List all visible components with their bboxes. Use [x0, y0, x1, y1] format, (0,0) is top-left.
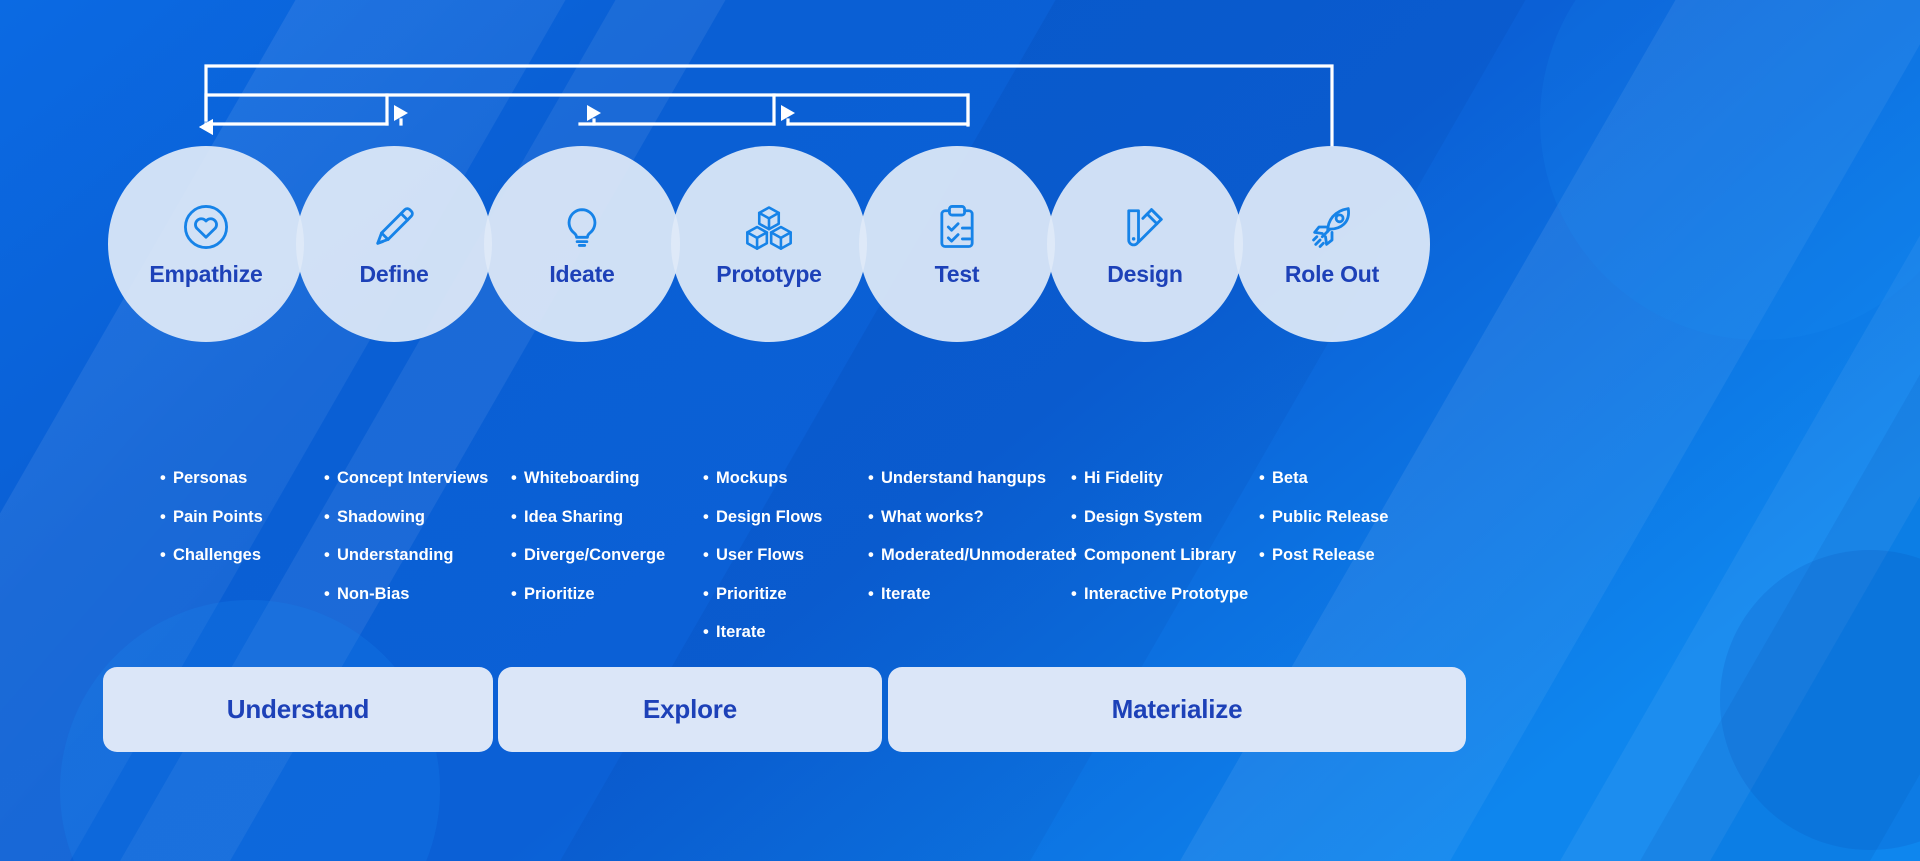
- detail-column-define: •Concept Interviews •Shadowing •Understa…: [324, 470, 488, 624]
- list-item-label: Iterate: [716, 624, 766, 641]
- bullet-dot: •: [868, 470, 881, 487]
- phase-bar-explore[interactable]: Explore: [498, 667, 882, 752]
- list-item-label: Diverge/Converge: [524, 547, 665, 564]
- bullet-dot: •: [1259, 470, 1272, 487]
- bullet-dot: •: [703, 586, 716, 603]
- list-item: •Post Release: [1259, 547, 1388, 564]
- bullet-dot: •: [324, 509, 337, 526]
- list-item-label: Challenges: [173, 547, 261, 564]
- phase-label-materialize: Materialize: [1112, 694, 1243, 725]
- stage-label-ideate: Ideate: [549, 261, 614, 288]
- bullet-dot: •: [1071, 509, 1084, 526]
- detail-column-empathize: •Personas •Pain Points •Challenges: [160, 470, 263, 586]
- list-item: •Iterate: [703, 624, 822, 641]
- stage-circle-define[interactable]: Define: [296, 146, 492, 342]
- list-item-label: Design Flows: [716, 509, 822, 526]
- list-item: •Beta: [1259, 470, 1388, 487]
- phase-label-understand: Understand: [227, 694, 369, 725]
- list-item: •Diverge/Converge: [511, 547, 665, 564]
- stacked-cubes-icon: [743, 201, 795, 253]
- list-item-label: Component Library: [1084, 547, 1236, 564]
- list-item: •Shadowing: [324, 509, 488, 526]
- bullet-dot: •: [868, 586, 881, 603]
- rocket-icon: [1306, 201, 1358, 253]
- stage-circle-prototype[interactable]: Prototype: [671, 146, 867, 342]
- stage-label-prototype: Prototype: [716, 261, 822, 288]
- list-item: •Prioritize: [703, 586, 822, 603]
- detail-column-ideate: •Whiteboarding •Idea Sharing •Diverge/Co…: [511, 470, 665, 624]
- stage-circle-design[interactable]: Design: [1047, 146, 1243, 342]
- list-item: •User Flows: [703, 547, 822, 564]
- list-item-label: Shadowing: [337, 509, 425, 526]
- list-item: •Moderated/Unmoderated: [868, 547, 1075, 564]
- list-item: •Whiteboarding: [511, 470, 665, 487]
- pencil-icon: [368, 201, 420, 253]
- stage-circle-row: Empathize Define Ideate: [0, 0, 1920, 400]
- list-item: •Design System: [1071, 509, 1248, 526]
- bullet-dot: •: [1259, 547, 1272, 564]
- detail-column-test: •Understand hangups •What works? •Modera…: [868, 470, 1075, 624]
- list-item-label: Mockups: [716, 470, 788, 487]
- list-item-label: Public Release: [1272, 509, 1388, 526]
- list-item-label: Concept Interviews: [337, 470, 488, 487]
- bullet-dot: •: [511, 470, 524, 487]
- stage-circle-ideate[interactable]: Ideate: [484, 146, 680, 342]
- list-item: •Hi Fidelity: [1071, 470, 1248, 487]
- list-item-label: Personas: [173, 470, 247, 487]
- phase-bar-materialize[interactable]: Materialize: [888, 667, 1466, 752]
- list-item: •Idea Sharing: [511, 509, 665, 526]
- bullet-dot: •: [868, 509, 881, 526]
- bullet-dot: •: [324, 547, 337, 564]
- list-item-label: Moderated/Unmoderated: [881, 547, 1075, 564]
- list-item: •Iterate: [868, 586, 1075, 603]
- diagram-stage: Empathize Define Ideate: [0, 0, 1920, 861]
- list-item: •Design Flows: [703, 509, 822, 526]
- list-item: •Concept Interviews: [324, 470, 488, 487]
- bullet-dot: •: [160, 509, 173, 526]
- stage-label-test: Test: [935, 261, 980, 288]
- list-item-label: Idea Sharing: [524, 509, 623, 526]
- bullet-dot: •: [160, 547, 173, 564]
- list-item: •Interactive Prototype: [1071, 586, 1248, 603]
- bullet-dot: •: [1071, 547, 1084, 564]
- bullet-dot: •: [1071, 470, 1084, 487]
- color-swatch-pen-icon: [1119, 201, 1171, 253]
- phase-label-explore: Explore: [643, 694, 737, 725]
- list-item: •Understand hangups: [868, 470, 1075, 487]
- bullet-dot: •: [324, 586, 337, 603]
- bullet-dot: •: [1071, 586, 1084, 603]
- list-item-label: Non-Bias: [337, 586, 409, 603]
- list-item-label: Prioritize: [524, 586, 595, 603]
- lightbulb-icon: [556, 201, 608, 253]
- list-item-label: Understand hangups: [881, 470, 1046, 487]
- list-item: •Challenges: [160, 547, 263, 564]
- list-item-label: Whiteboarding: [524, 470, 639, 487]
- bullet-dot: •: [868, 547, 881, 564]
- stage-circle-roleout[interactable]: Role Out: [1234, 146, 1430, 342]
- list-item: •Personas: [160, 470, 263, 487]
- bullet-dot: •: [703, 547, 716, 564]
- phase-bar-understand[interactable]: Understand: [103, 667, 493, 752]
- list-item: •Component Library: [1071, 547, 1248, 564]
- stage-label-design: Design: [1107, 261, 1182, 288]
- detail-column-design: •Hi Fidelity •Design System •Component L…: [1071, 470, 1248, 624]
- list-item-label: Hi Fidelity: [1084, 470, 1163, 487]
- list-item-label: Prioritize: [716, 586, 787, 603]
- stage-circle-test[interactable]: Test: [859, 146, 1055, 342]
- list-item: •What works?: [868, 509, 1075, 526]
- clipboard-checklist-icon: [931, 201, 983, 253]
- list-item-label: Design System: [1084, 509, 1202, 526]
- stage-detail-columns: •Personas •Pain Points •Challenges •Conc…: [0, 470, 1920, 670]
- list-item: •Mockups: [703, 470, 822, 487]
- bullet-dot: •: [703, 470, 716, 487]
- bullet-dot: •: [511, 586, 524, 603]
- list-item: •Prioritize: [511, 586, 665, 603]
- list-item-label: Pain Points: [173, 509, 263, 526]
- stage-label-roleout: Role Out: [1285, 261, 1379, 288]
- list-item: •Pain Points: [160, 509, 263, 526]
- list-item-label: Post Release: [1272, 547, 1375, 564]
- detail-column-prototype: •Mockups •Design Flows •User Flows •Prio…: [703, 470, 822, 663]
- list-item-label: Iterate: [881, 586, 931, 603]
- list-item-label: Interactive Prototype: [1084, 586, 1248, 603]
- detail-column-roleout: •Beta •Public Release •Post Release: [1259, 470, 1388, 586]
- list-item: •Public Release: [1259, 509, 1388, 526]
- list-item-label: Understanding: [337, 547, 453, 564]
- list-item-label: Beta: [1272, 470, 1308, 487]
- heart-in-circle-icon: [180, 201, 232, 253]
- list-item-label: What works?: [881, 509, 984, 526]
- list-item: •Understanding: [324, 547, 488, 564]
- bullet-dot: •: [703, 509, 716, 526]
- list-item-label: User Flows: [716, 547, 804, 564]
- bullet-dot: •: [511, 547, 524, 564]
- stage-label-define: Define: [359, 261, 428, 288]
- bullet-dot: •: [1259, 509, 1272, 526]
- stage-circle-empathize[interactable]: Empathize: [108, 146, 304, 342]
- list-item: •Non-Bias: [324, 586, 488, 603]
- bullet-dot: •: [324, 470, 337, 487]
- bullet-dot: •: [160, 470, 173, 487]
- bullet-dot: •: [703, 624, 716, 641]
- stage-label-empathize: Empathize: [149, 261, 262, 288]
- phase-bar-row: Understand Explore Materialize: [0, 667, 1920, 757]
- bullet-dot: •: [511, 509, 524, 526]
